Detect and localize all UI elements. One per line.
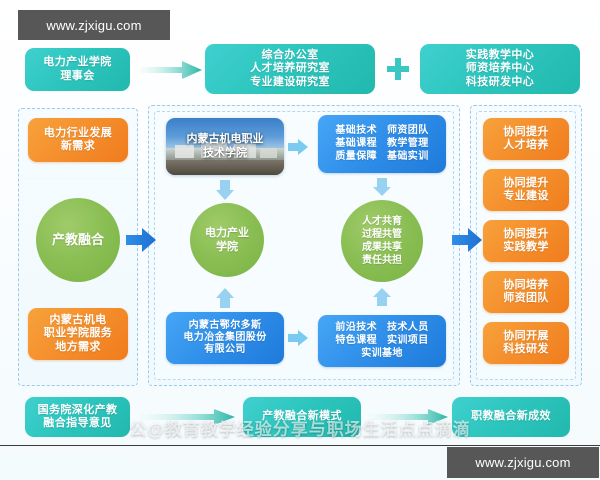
academy-line1: 电力产业	[205, 226, 249, 240]
shared-line3: 成果共享	[362, 241, 402, 254]
offices-line2: 人才培养研究室	[250, 62, 330, 75]
arrow-model-to-result	[368, 408, 448, 426]
arrow-school-to-academy-down	[215, 180, 235, 200]
arrow-company-resources-to-shared-up	[372, 288, 392, 306]
diagram-canvas: 电力产业学院 理事会 综合办公室 人才培养研究室 专业建设研究室 实践教学中心 …	[0, 0, 600, 480]
watermark-badge-top: www.zjxigu.com	[18, 10, 170, 40]
outcome-item-1: 协同提升 专业建设	[483, 169, 569, 211]
school-line2: 技术学院	[166, 147, 284, 162]
company-line1: 内蒙古鄂尔多斯	[189, 320, 262, 332]
centers-line3: 科技研发中心	[466, 76, 534, 89]
arrow-school-to-resources	[288, 138, 308, 156]
school-res-r2c2: 教学管理	[387, 138, 429, 150]
offices-line3: 专业建设研究室	[250, 76, 330, 89]
divider-line	[0, 445, 600, 446]
demand-top-line2: 新需求	[61, 140, 95, 153]
school-resources-box: 基础技术 师资团队 基础课程 教学管理 质量保障 基础实训	[318, 115, 446, 173]
school-photo-box: 内蒙古机电职业 技术学院	[166, 118, 284, 175]
shared-line2: 过程共管	[362, 228, 402, 241]
arrow-company-to-academy-up	[215, 288, 235, 308]
outcome-1-line2: 专业建设	[503, 190, 549, 203]
offices-box: 综合办公室 人才培养研究室 专业建设研究室	[205, 44, 375, 94]
outcome-item-4: 协同开展 科技研发	[483, 322, 569, 364]
policy-line2: 融合指导意见	[43, 417, 111, 430]
arrow-policy-to-model	[140, 408, 235, 426]
model-label: 产教融合新模式	[262, 410, 342, 423]
watermark-badge-bottom-text: www.zjxigu.com	[475, 455, 570, 470]
company-res-r1c1: 前沿技术	[335, 322, 377, 334]
offices-line1: 综合办公室	[262, 49, 319, 62]
school-res-r3c1: 质量保障	[335, 151, 377, 163]
company-resources-grid: 前沿技术 技术人员 特色课程 实训项目 实训基地	[335, 322, 428, 361]
arrow-company-to-resources	[288, 329, 308, 347]
shared-line4: 责任共担	[362, 254, 402, 267]
outcome-0-line1: 协同提升	[503, 126, 549, 139]
result-label: 职教融合新成效	[471, 410, 551, 423]
school-res-r1c2: 师资团队	[387, 125, 429, 137]
arrow-center-to-outcomes	[452, 226, 482, 254]
outcome-item-3: 协同培养 师资团队	[483, 271, 569, 313]
academy-circle: 电力产业 学院	[190, 203, 264, 277]
school-resources-grid: 基础技术 师资团队 基础课程 教学管理 质量保障 基础实训	[335, 125, 428, 164]
outcome-0-line2: 人才培养	[503, 139, 549, 152]
outcome-2-line1: 协同提升	[503, 228, 549, 241]
arrow-demand-to-center	[126, 226, 156, 254]
council-box: 电力产业学院 理事会	[25, 48, 130, 91]
company-res-r2c2: 实训项目	[387, 335, 429, 347]
outcome-4-line1: 协同开展	[503, 330, 549, 343]
outcome-3-line1: 协同培养	[503, 279, 549, 292]
policy-line1: 国务院深化产教	[38, 404, 118, 417]
model-box: 产教融合新模式	[243, 397, 361, 437]
school-res-r3c2: 基础实训	[387, 151, 429, 163]
school-res-r1c1: 基础技术	[335, 125, 377, 137]
company-res-last: 实训基地	[335, 348, 428, 360]
demand-bottom-line2: 职业学院服务	[44, 327, 112, 340]
plus-icon	[386, 57, 410, 81]
photo-road	[166, 160, 284, 175]
result-box: 职教融合新成效	[452, 397, 570, 437]
council-line1: 电力产业学院	[43, 56, 111, 69]
centers-line2: 师资培养中心	[466, 62, 534, 75]
centers-box: 实践教学中心 师资培养中心 科技研发中心	[420, 44, 580, 94]
arrow-council-to-offices	[140, 60, 202, 80]
demand-bottom-line1: 内蒙古机电	[50, 314, 107, 327]
company-res-r1c2: 技术人员	[387, 322, 429, 334]
watermark-badge-bottom: www.zjxigu.com	[447, 447, 599, 478]
outcome-item-0: 协同提升 人才培养	[483, 118, 569, 160]
demand-top-box: 电力行业发展 新需求	[28, 118, 128, 162]
integration-circle: 产教融合	[36, 198, 120, 282]
school-res-r2c1: 基础课程	[335, 138, 377, 150]
watermark-badge-top-text: www.zjxigu.com	[46, 18, 141, 33]
company-box: 内蒙古鄂尔多斯 电力冶金集团股份 有限公司	[166, 312, 284, 364]
academy-line2: 学院	[216, 240, 238, 254]
shared-outcomes-circle: 人才共育 过程共管 成果共享 责任共担	[341, 200, 423, 282]
outcome-item-2: 协同提升 实践教学	[483, 220, 569, 262]
integration-circle-label: 产教融合	[52, 232, 104, 249]
demand-top-line1: 电力行业发展	[44, 127, 112, 140]
company-line2: 电力冶金集团股份	[183, 332, 266, 344]
outcome-3-line2: 师资团队	[503, 292, 549, 305]
company-line3: 有限公司	[204, 344, 246, 356]
centers-line1: 实践教学中心	[466, 49, 534, 62]
arrow-resources-to-shared-down	[372, 178, 392, 196]
outcome-2-line2: 实践教学	[503, 241, 549, 254]
outcome-4-line2: 科技研发	[503, 343, 549, 356]
demand-bottom-box: 内蒙古机电 职业学院服务 地方需求	[28, 308, 128, 360]
company-res-r2c1: 特色课程	[335, 335, 377, 347]
company-resources-box: 前沿技术 技术人员 特色课程 实训项目 实训基地	[318, 315, 446, 367]
school-photo-label: 内蒙古机电职业 技术学院	[166, 132, 284, 162]
council-line2: 理事会	[60, 70, 94, 83]
school-line1: 内蒙古机电职业	[166, 132, 284, 147]
shared-line1: 人才共育	[362, 215, 402, 228]
outcome-1-line1: 协同提升	[503, 177, 549, 190]
demand-bottom-line3: 地方需求	[55, 341, 101, 354]
policy-box: 国务院深化产教 融合指导意见	[25, 397, 130, 437]
